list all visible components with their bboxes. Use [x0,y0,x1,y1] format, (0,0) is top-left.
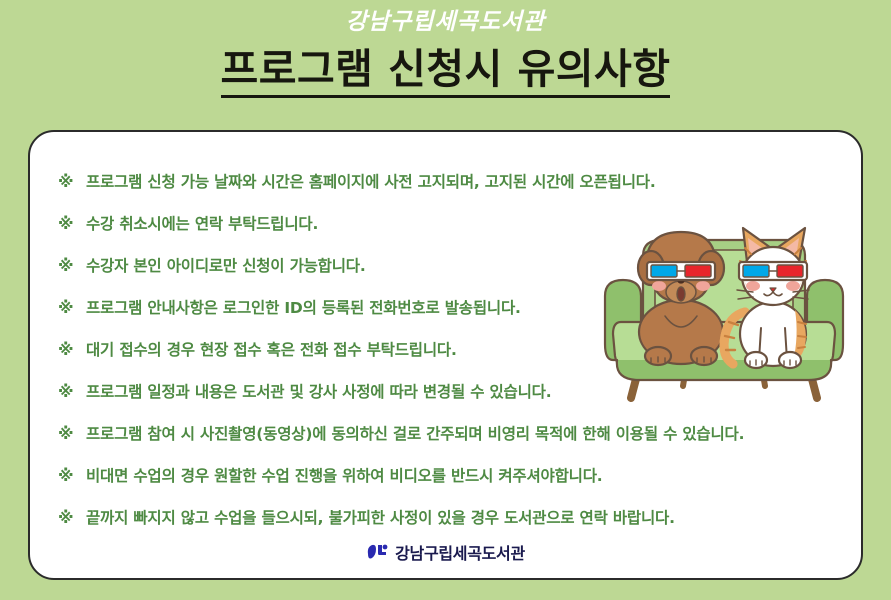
reference-mark-icon: ※ [58,214,86,233]
notice-text: 프로그램 신청 가능 날짜와 시간은 홈페이지에 사전 고지되며, 고지된 시간… [86,170,656,192]
list-item: ※ 프로그램 안내사항은 로그인한 ID의 등록된 전화번호로 발송됩니다. [58,296,847,338]
list-item: ※ 대기 접수의 경우 현장 접수 혹은 전화 접수 부탁드립니다. [58,338,847,380]
reference-mark-icon: ※ [58,340,86,359]
notice-text: 프로그램 안내사항은 로그인한 ID의 등록된 전화번호로 발송됩니다. [86,296,521,318]
list-item: ※ 프로그램 참여 시 사진촬영(동영상)에 동의하신 걸로 간주되며 비영리 … [58,422,847,464]
card-footer: 강남구립세곡도서관 [30,540,861,564]
notice-text: 비대면 수업의 경우 원할한 수업 진행을 위하여 비디오를 반드시 켜주셔야합… [86,464,602,486]
list-item: ※ 수강 취소시에는 연락 부탁드립니다. [58,212,847,254]
footer-library-name: 강남구립세곡도서관 [395,540,525,564]
library-logo-icon [366,543,388,562]
list-item: ※ 수강자 본인 아이디로만 신청이 가능합니다. [58,254,847,296]
notice-text: 프로그램 참여 시 사진촬영(동영상)에 동의하신 걸로 간주되며 비영리 목적… [86,422,744,444]
reference-mark-icon: ※ [58,466,86,485]
list-item: ※ 프로그램 일정과 내용은 도서관 및 강사 사정에 따라 변경될 수 있습니… [58,380,847,422]
reference-mark-icon: ※ [58,256,86,275]
notice-text: 프로그램 일정과 내용은 도서관 및 강사 사정에 따라 변경될 수 있습니다. [86,380,551,402]
page-header: 강남구립세곡도서관 프로그램 신청시 유의사항 [0,0,891,130]
list-item: ※ 비대면 수업의 경우 원할한 수업 진행을 위하여 비디오를 반드시 켜주셔… [58,464,847,506]
notice-text: 끝까지 빠지지 않고 수업을 들으시되, 불가피한 사정이 있을 경우 도서관으… [86,506,675,528]
page-title-text: 프로그램 신청시 유의사항 [221,44,671,98]
library-brand-script: 강남구립세곡도서관 [0,9,891,35]
reference-mark-icon: ※ [58,172,86,191]
reference-mark-icon: ※ [58,508,86,527]
notice-list: ※ 프로그램 신청 가능 날짜와 시간은 홈페이지에 사전 고지되며, 고지된 … [58,170,847,548]
notice-text: 수강 취소시에는 연락 부탁드립니다. [86,212,318,234]
reference-mark-icon: ※ [58,298,86,317]
list-item: ※ 프로그램 신청 가능 날짜와 시간은 홈페이지에 사전 고지되며, 고지된 … [58,170,847,212]
notice-text: 대기 접수의 경우 현장 접수 혹은 전화 접수 부탁드립니다. [86,338,457,360]
notice-card: ※ 프로그램 신청 가능 날짜와 시간은 홈페이지에 사전 고지되며, 고지된 … [28,130,863,580]
reference-mark-icon: ※ [58,382,86,401]
reference-mark-icon: ※ [58,424,86,443]
page-title: 프로그램 신청시 유의사항 [0,44,891,98]
notice-text: 수강자 본인 아이디로만 신청이 가능합니다. [86,254,366,276]
